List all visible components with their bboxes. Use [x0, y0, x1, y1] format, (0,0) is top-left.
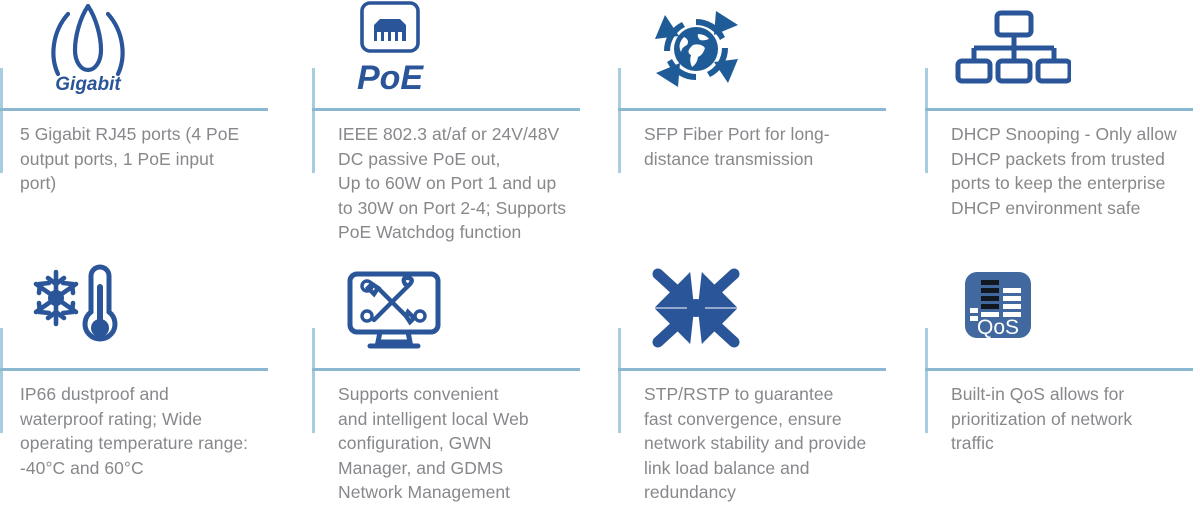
poe-wordmark: PoE: [357, 59, 424, 95]
feature-cell-dhcp-snooping: DHCP Snooping - Only allow DHCP packets …: [925, 0, 1200, 260]
feature-row-2: IP66 dustproof and waterproof rating; Wi…: [0, 260, 1200, 520]
feature-description: SFP Fiber Port for long- distance transm…: [644, 122, 919, 171]
qos-wordmark: QoS: [977, 316, 1019, 339]
feature-description: Supports convenient and intelligent loca…: [338, 382, 612, 505]
feature-cell-stp-rstp: STP/RSTP to guarantee fast convergence, …: [618, 260, 925, 520]
feature-cell-ip66: IP66 dustproof and waterproof rating; Wi…: [0, 260, 312, 520]
vertical-divider: [312, 68, 315, 173]
horizontal-divider: [925, 368, 1193, 371]
feature-cell-qos: QoS Built-in QoS allows for prioritizati…: [925, 260, 1200, 520]
horizontal-divider: [925, 108, 1193, 111]
feature-description: STP/RSTP to guarantee fast convergence, …: [644, 382, 919, 505]
vertical-divider: [618, 328, 621, 433]
horizontal-divider: [312, 108, 580, 111]
monitor-tools-icon: [340, 260, 470, 356]
horizontal-divider: [312, 368, 580, 371]
feature-description: IP66 dustproof and waterproof rating; Wi…: [20, 382, 306, 480]
feature-cell-sfp: SFP Fiber Port for long- distance transm…: [618, 0, 925, 260]
snowflake-thermometer-icon: [28, 260, 158, 356]
feature-description: IEEE 802.3 at/af or 24V/48V DC passive P…: [338, 122, 612, 245]
feature-cell-gigabit: Gigabit 5 Gigabit RJ45 ports (4 PoE outp…: [0, 0, 312, 260]
network-tree-icon: [953, 0, 1083, 96]
globe-arrows-icon: [646, 0, 776, 96]
feature-row-1: Gigabit 5 Gigabit RJ45 ports (4 PoE outp…: [0, 0, 1200, 260]
feature-description: DHCP Snooping - Only allow DHCP packets …: [951, 122, 1194, 220]
feature-grid: Gigabit 5 Gigabit RJ45 ports (4 PoE outp…: [0, 0, 1200, 520]
vertical-divider: [925, 68, 928, 173]
qos-equalizer-icon: QoS: [953, 260, 1083, 356]
gigabit-wordmark: Gigabit: [55, 74, 121, 94]
vertical-divider: [925, 328, 928, 433]
converge-arrows-icon: [646, 260, 776, 356]
poe-logo-icon: PoE: [340, 0, 470, 96]
feature-cell-management: Supports convenient and intelligent loca…: [312, 260, 618, 520]
vertical-divider: [618, 68, 621, 173]
horizontal-divider: [618, 108, 886, 111]
vertical-divider: [312, 328, 315, 433]
feature-description: Built-in QoS allows for prioritization o…: [951, 382, 1194, 456]
gigabit-logo-icon: Gigabit: [28, 0, 158, 96]
feature-cell-poe: PoE IEEE 802.3 at/af or 24V/48V DC passi…: [312, 0, 618, 260]
horizontal-divider: [618, 368, 886, 371]
vertical-divider: [0, 328, 3, 433]
horizontal-divider: [0, 108, 268, 111]
feature-description: 5 Gigabit RJ45 ports (4 PoE output ports…: [20, 122, 306, 196]
vertical-divider: [0, 68, 3, 173]
horizontal-divider: [0, 368, 268, 371]
